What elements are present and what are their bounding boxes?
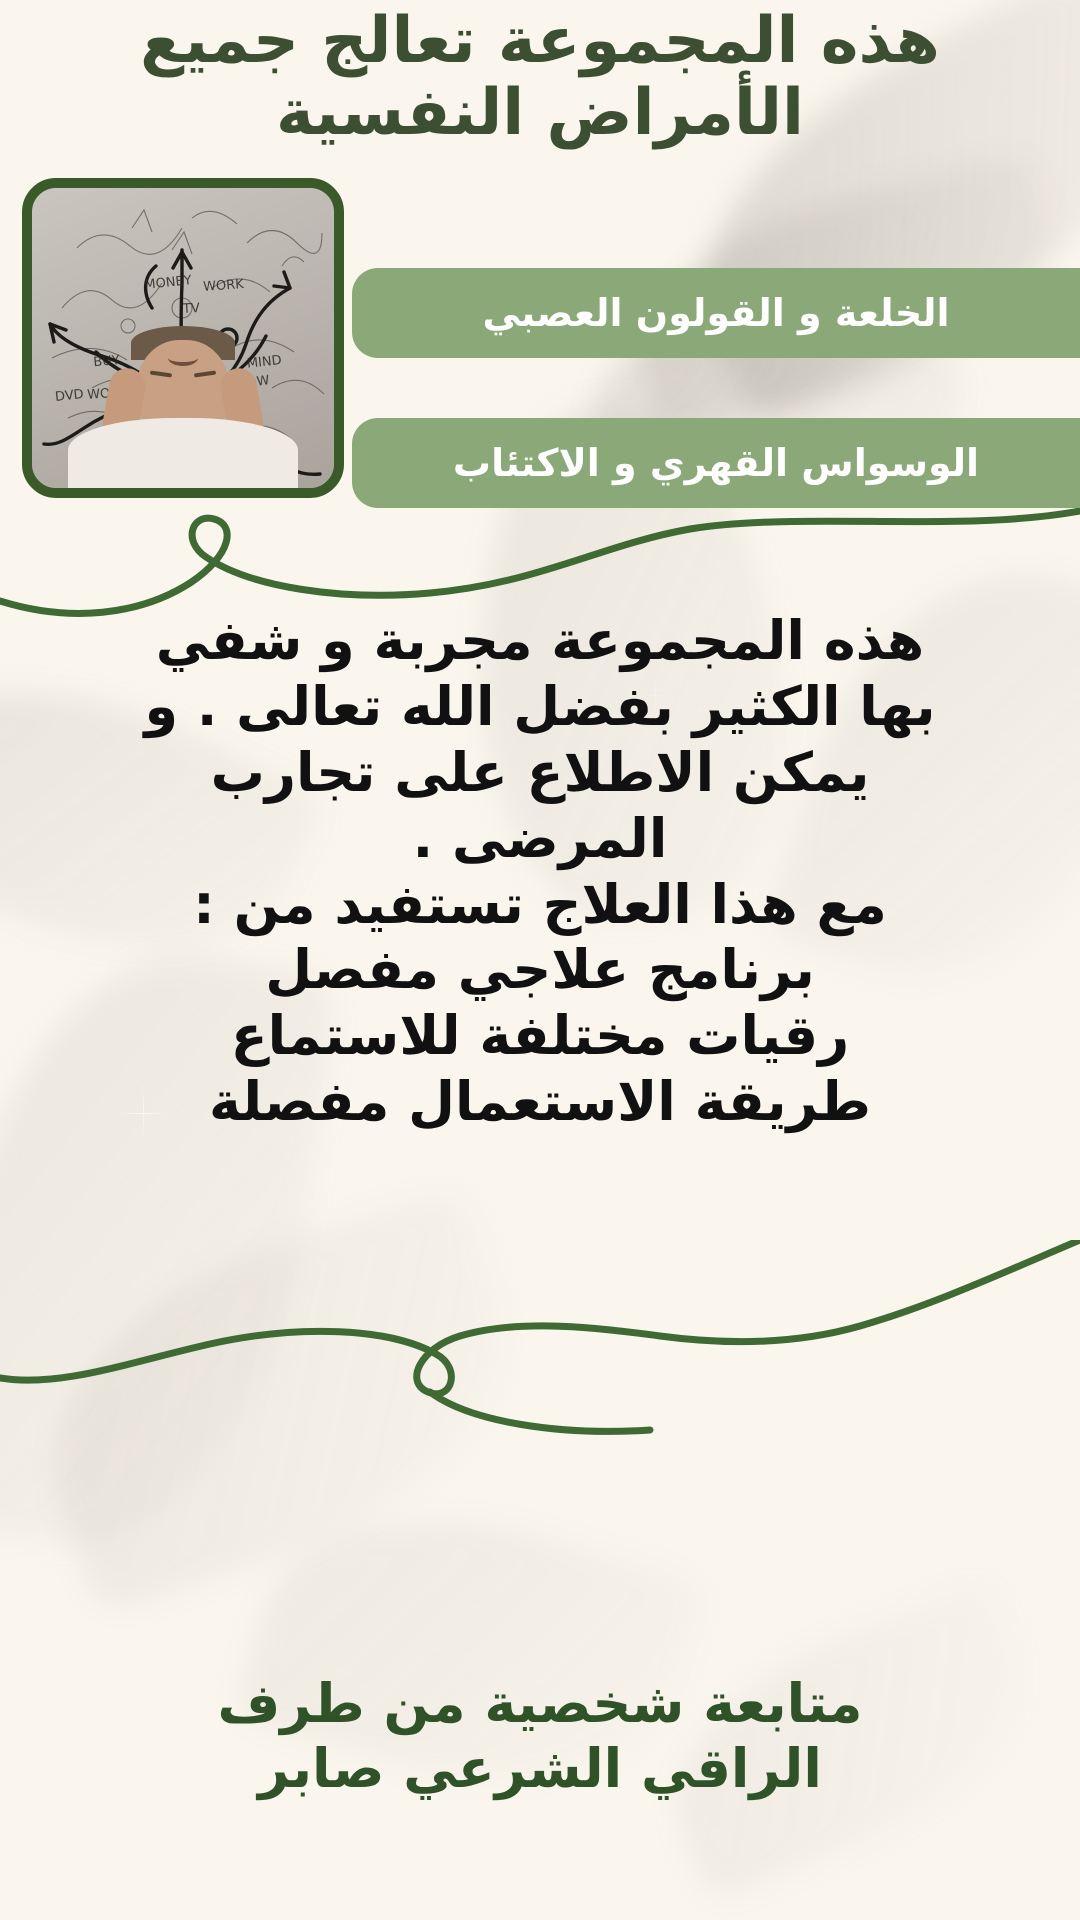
title-line-2: الأمراض النفسية <box>60 78 1020 150</box>
footer-line-2: الراقي الشرعي صابر <box>80 1737 1000 1802</box>
svg-text:TV: TV <box>182 301 201 317</box>
stressed-man-photo: MONEY WORK TV BUY WORK DVD GO NOW MIND B… <box>22 178 344 498</box>
body-text-block: هذه المجموعة مجربة و شفي بها الكثير بفضل… <box>0 608 1080 1135</box>
body-line-3: يمكن الاطلاع على تجارب <box>70 740 1010 806</box>
svg-text:MONEY: MONEY <box>144 273 193 293</box>
condition-pill-1-label: الخلعة و القولون العصبي <box>482 291 949 335</box>
body-line-4: المرضى . <box>70 806 1010 872</box>
body-line-6: برنامج علاجي مفصل <box>70 937 1010 1003</box>
body-line-2: بها الكثير بفضل الله تعالى . و <box>70 674 1010 740</box>
photo-inner: MONEY WORK TV BUY WORK DVD GO NOW MIND B… <box>32 188 334 488</box>
footer-line-1: متابعة شخصية من طرف <box>80 1672 1000 1737</box>
svg-text:WORK: WORK <box>203 277 245 295</box>
body-line-7: رقيات مختلفة للاستماع <box>70 1003 1010 1069</box>
condition-pill-2-label: الوسواس القهري و الاكتئاب <box>453 441 979 485</box>
condition-pill-2[interactable]: الوسواس القهري و الاكتئاب <box>352 418 1080 508</box>
body-line-5: مع هذا العلاج تستفيد من : <box>70 872 1010 938</box>
title-line-1: هذه المجموعة تعالج جميع <box>60 6 1020 78</box>
svg-text:BUY: BUY <box>93 353 121 370</box>
swirl-divider-icon <box>0 1240 1080 1440</box>
body-line-8: طريقة الاستعمال مفصلة <box>70 1069 1010 1135</box>
body-line-1: هذه المجموعة مجربة و شفي <box>70 608 1010 674</box>
svg-text:DVD: DVD <box>54 387 84 405</box>
svg-text:MIND: MIND <box>246 353 282 372</box>
photo-man-body <box>68 418 298 488</box>
footer-block: متابعة شخصية من طرف الراقي الشرعي صابر <box>0 1672 1080 1802</box>
photo-man-mouth <box>168 350 198 366</box>
condition-pill-1[interactable]: الخلعة و القولون العصبي <box>352 268 1080 358</box>
leaf-shadow-icon <box>5 1183 554 1617</box>
page-title: هذه المجموعة تعالج جميع الأمراض النفسية <box>0 6 1080 149</box>
